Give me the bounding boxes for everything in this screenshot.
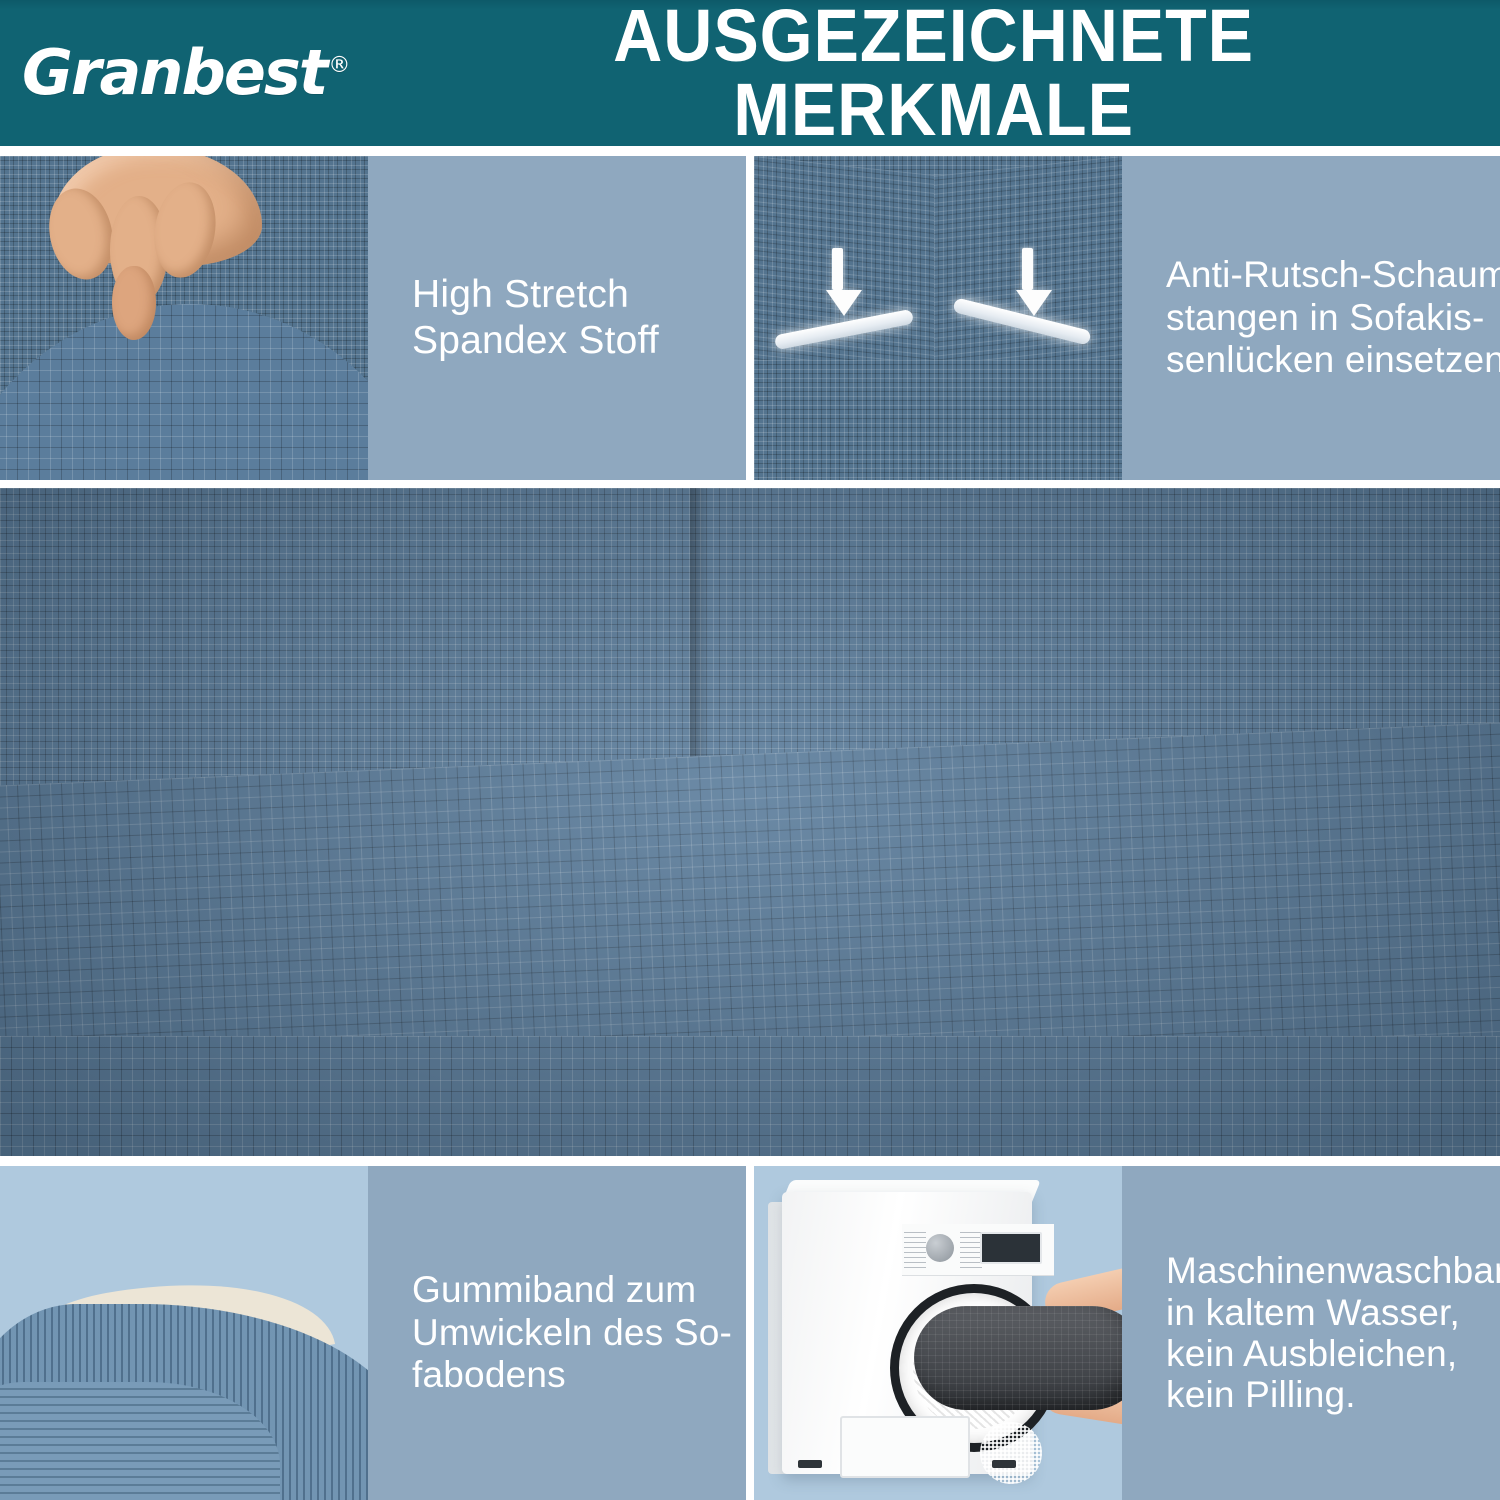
feature-card-anti-slip-foam-rods: Anti-Rutsch-Schaum- stangen in Sofakis- … xyxy=(754,156,1500,480)
infographic-page: Granbest® AUSGEZEICHNETE MERKMALE High S… xyxy=(0,0,1500,1500)
stretched-fabric-shape xyxy=(0,304,368,480)
caption-line: Maschinenwaschbar xyxy=(1166,1250,1500,1291)
caption-line: Umwickeln des So- xyxy=(412,1312,746,1355)
registered-trademark-icon: ® xyxy=(328,53,348,78)
brand-logo: Granbest® xyxy=(0,0,380,146)
arrow-stem xyxy=(832,248,843,290)
sofa-corner-foam-rods-photo xyxy=(754,156,1122,480)
down-arrow-icon xyxy=(826,248,848,316)
divider-top xyxy=(0,480,1500,488)
caption-line: kein Pilling. xyxy=(1166,1374,1500,1415)
sofa-cover-closeup-hero xyxy=(0,488,1500,1156)
caption-line: fabodens xyxy=(412,1354,746,1397)
washing-machine-loading-photo xyxy=(754,1166,1122,1500)
thumb-shape xyxy=(112,266,156,340)
display-screen xyxy=(980,1232,1042,1264)
fabric-texture xyxy=(0,304,368,480)
rib-texture xyxy=(0,1382,280,1500)
feature-caption-machine-washable: Maschinenwaschbar in kaltem Wasser, kein… xyxy=(1122,1166,1500,1500)
control-panel xyxy=(902,1224,1054,1276)
caption-line: Spandex Stoff xyxy=(412,318,746,364)
caption-line: High Stretch xyxy=(412,272,746,318)
sofa-seat xyxy=(754,360,1122,480)
machine-foot xyxy=(798,1460,822,1468)
caption-line: stangen in Sofakis- xyxy=(1166,297,1500,340)
caption-line: senlücken einsetzen xyxy=(1166,339,1500,382)
header-bar: Granbest® AUSGEZEICHNETE MERKMALE xyxy=(0,0,1500,146)
feature-row-top: High Stretch Spandex Stoff xyxy=(0,156,1500,480)
arrow-head xyxy=(826,290,862,316)
caption-line: in kaltem Wasser, xyxy=(1166,1292,1500,1333)
feature-row-bottom: Gummiband zum Umwickeln des So- fabodens xyxy=(0,1166,1500,1500)
feature-card-elastic-band: Gummiband zum Umwickeln des So- fabodens xyxy=(0,1166,746,1500)
arrow-head xyxy=(1016,290,1052,316)
hero-vignette xyxy=(0,488,1500,1156)
arrow-stem xyxy=(1022,248,1033,290)
fabric-texture xyxy=(754,360,1122,480)
brand-name: Granbest xyxy=(22,36,326,109)
caption-line: kein Ausbleichen, xyxy=(1166,1333,1500,1374)
caption-line: Gummiband zum xyxy=(412,1269,746,1312)
detergent-drawer xyxy=(840,1416,970,1478)
fabric-texture xyxy=(914,1306,1122,1410)
down-arrow-icon xyxy=(1016,248,1038,316)
feature-caption-high-stretch: High Stretch Spandex Stoff xyxy=(368,156,746,480)
feature-card-high-stretch: High Stretch Spandex Stoff xyxy=(0,156,746,480)
rolled-sofa-cover xyxy=(914,1306,1122,1410)
page-title: AUSGEZEICHNETE MERKMALE xyxy=(425,0,1455,147)
feature-caption-anti-slip: Anti-Rutsch-Schaum- stangen in Sofakis- … xyxy=(1122,156,1500,480)
program-ticks-right xyxy=(960,1230,982,1268)
vent-grille xyxy=(980,1422,1042,1484)
feature-card-machine-washable: Maschinenwaschbar in kaltem Wasser, kein… xyxy=(754,1166,1500,1500)
feature-caption-elastic-band: Gummiband zum Umwickeln des So- fabodens xyxy=(368,1166,746,1500)
hand-pinching-stretch-fabric-photo xyxy=(0,156,368,480)
brand-logo-text: Granbest® xyxy=(22,42,348,104)
program-dial xyxy=(926,1234,954,1262)
machine-foot xyxy=(992,1460,1016,1468)
elastic-band-lower xyxy=(0,1382,280,1500)
caption-line: Anti-Rutsch-Schaum- xyxy=(1166,254,1500,297)
divider-bottom xyxy=(0,1156,1500,1164)
program-ticks-left xyxy=(904,1230,926,1268)
elastic-band-fabric-photo xyxy=(0,1166,368,1500)
